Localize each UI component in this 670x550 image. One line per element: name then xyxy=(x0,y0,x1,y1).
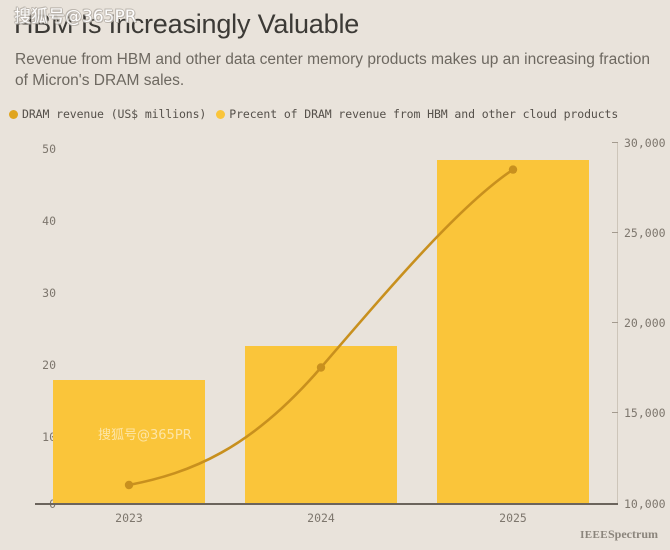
line-point-2024 xyxy=(317,363,325,371)
x-tick-2023: 2023 xyxy=(115,511,143,525)
line-point-2023 xyxy=(125,481,133,489)
x-axis-baseline xyxy=(35,503,618,505)
legend-swatch-icon xyxy=(9,110,18,119)
line-series-hbm-percent xyxy=(0,130,670,520)
x-tick-2024: 2024 xyxy=(307,511,335,525)
chart-figure: 搜狐号@365PR HBM Is Increasingly Valuable R… xyxy=(0,0,670,550)
legend-label-dram-revenue: DRAM revenue (US$ millions) xyxy=(22,107,206,121)
source-ieee-label: IEEE xyxy=(580,529,608,541)
x-tick-2025: 2025 xyxy=(499,511,527,525)
chart-legend: DRAM revenue (US$ millions) Precent of D… xyxy=(9,107,618,121)
watermark-top-left: 搜狐号@365PR xyxy=(14,2,137,27)
legend-swatch-icon xyxy=(216,110,225,119)
source-credit: IEEESpectrum xyxy=(580,527,658,542)
legend-item-hbm-percent[interactable]: Precent of DRAM revenue from HBM and oth… xyxy=(216,107,618,121)
legend-item-dram-revenue[interactable]: DRAM revenue (US$ millions) xyxy=(9,107,206,121)
legend-label-hbm-percent: Precent of DRAM revenue from HBM and oth… xyxy=(229,107,618,121)
line-point-2025 xyxy=(509,165,517,173)
source-spectrum-label: Spectrum xyxy=(608,527,658,541)
watermark-middle: 搜狐号@365PR xyxy=(98,424,192,443)
plot-area: 50 40 30 20 10 0 30,000 25,000 20,000 15… xyxy=(0,130,670,520)
chart-subtitle: Revenue from HBM and other data center m… xyxy=(15,49,655,91)
